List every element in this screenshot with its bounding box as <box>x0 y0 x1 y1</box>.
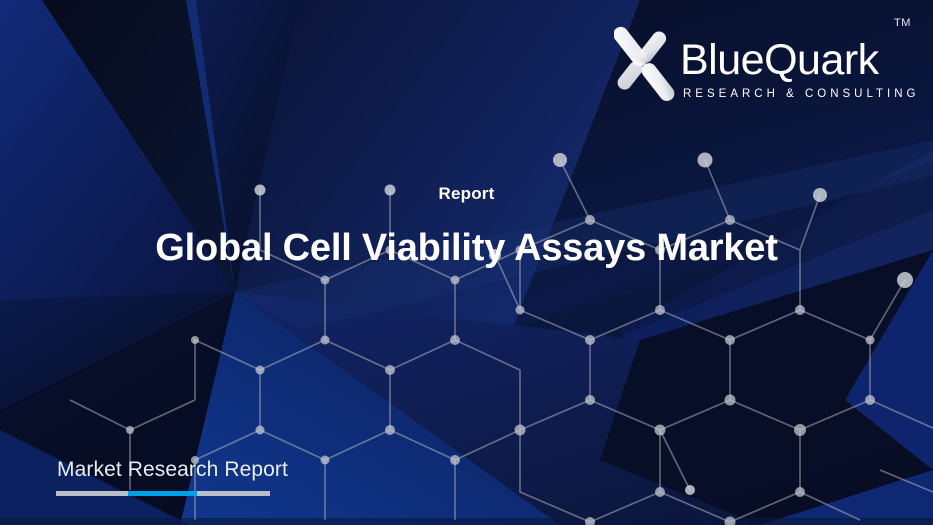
report-cover-page: BlueQuark RESEARCH & CONSULTING TM Repor… <box>0 0 933 525</box>
footer-accent-rule <box>56 491 270 496</box>
brand-wordmark: BlueQuark <box>680 37 879 83</box>
brand-tagline: RESEARCH & CONSULTING <box>683 88 920 100</box>
title-block: Report Global Cell Viability Assays Mark… <box>0 183 933 271</box>
footer-label: Market Research Report <box>57 457 288 483</box>
page-title: Global Cell Viability Assays Market <box>0 225 933 271</box>
brand-wordmark-quark: Quark <box>764 36 879 84</box>
brand-logo: BlueQuark RESEARCH & CONSULTING TM <box>614 12 919 104</box>
rule-segment-right <box>197 491 270 496</box>
trademark-symbol: TM <box>894 17 911 29</box>
brand-wordmark-blue: Blue <box>680 36 764 84</box>
report-kicker-label: Report <box>0 183 933 205</box>
rule-segment-accent <box>128 491 197 496</box>
bluequark-chevron-mark-icon <box>614 24 676 102</box>
rule-segment-left <box>56 491 128 496</box>
